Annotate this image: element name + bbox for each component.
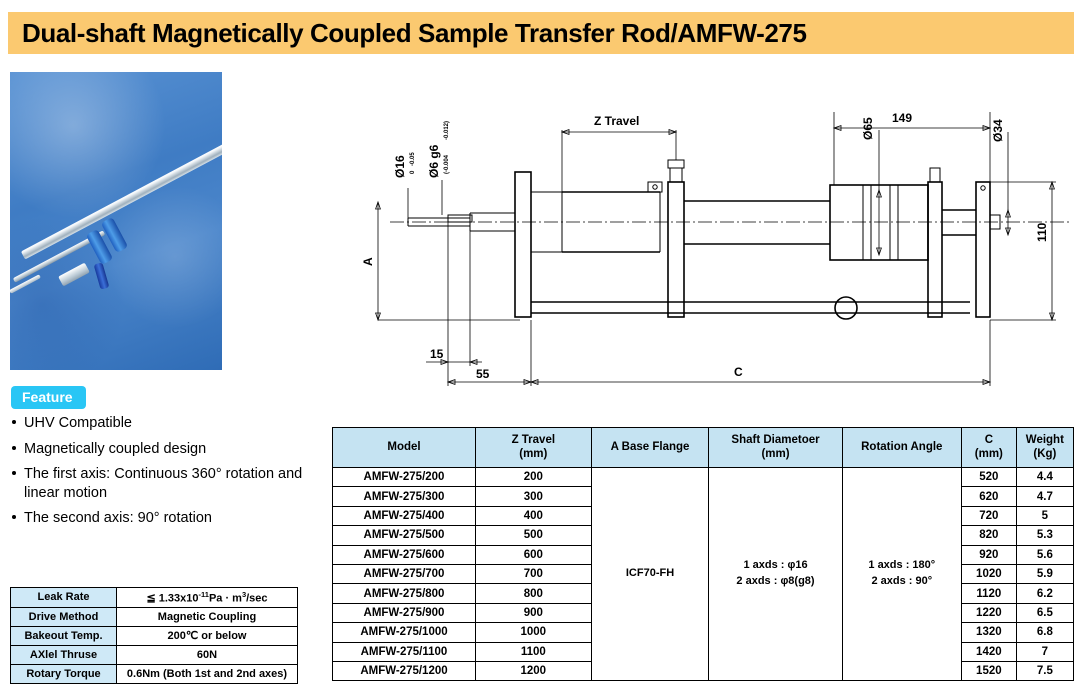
cell-weight: 4.4 [1016, 468, 1073, 487]
cell-weight: 6.5 [1016, 603, 1073, 622]
spec-value: ≦ 1.33x10-11Pa · m3/sec [117, 588, 298, 608]
cell-z-travel: 400 [475, 506, 591, 525]
dimension-c: C [531, 320, 990, 386]
dimension-dia-16: Ø16 0 -0.05 [393, 152, 416, 218]
label-dim-a: A [361, 257, 375, 266]
spec-label: Drive Method [11, 607, 117, 626]
body-tube [684, 201, 830, 244]
shaft-diameter-axis1: 1 axds : φ16 [711, 558, 839, 574]
cell-z-travel: 600 [475, 545, 591, 564]
feature-item: The second axis: 90° rotation [12, 509, 324, 528]
spec-value: 0.6Nm (Both 1st and 2nd axes) [117, 664, 298, 683]
datasheet-page: Dual-shaft Magnetically Coupled Sample T… [0, 0, 1082, 693]
column-header-weight: Weight (Kg) [1016, 428, 1073, 468]
cell-z-travel: 1100 [475, 642, 591, 661]
cell-model: AMFW-275/1200 [333, 661, 476, 680]
spec-label: AXlel Thruse [11, 645, 117, 664]
spec-value: Magnetic Coupling [117, 607, 298, 626]
cell-c: 1420 [961, 642, 1016, 661]
dimension-dia-6: Ø6 g6 (-0.004 -0.012) [427, 121, 450, 215]
cell-model: AMFW-275/600 [333, 545, 476, 564]
product-photo [10, 72, 222, 370]
cell-z-travel: 200 [475, 468, 591, 487]
leak-rate-prefix: ≦ 1.33x10 [146, 593, 198, 605]
model-table: Model Z Travel (mm) A Base Flange Shaft … [332, 427, 1074, 681]
leak-rate-exponent: -11 [199, 590, 209, 599]
dimension-a: A [361, 202, 520, 320]
dimension-110: 110 [990, 182, 1056, 320]
feature-item: UHV Compatible [12, 414, 324, 433]
cell-base-flange: ICF70-FH [591, 468, 709, 681]
cell-shaft-diameter: 1 axds : φ16 2 axds : φ8(g8) [709, 468, 842, 681]
right-coupling [928, 168, 976, 317]
label-dia-16-tol-upper: 0 [410, 170, 416, 174]
leak-rate-unit: Pa · m [209, 593, 242, 605]
cell-model: AMFW-275/400 [333, 506, 476, 525]
label-dia-6: Ø6 g6 [427, 144, 441, 178]
cell-weight: 7 [1016, 642, 1073, 661]
cell-c: 820 [961, 526, 1016, 545]
dimension-dia-34: Ø34 [991, 119, 1010, 235]
label-dia-6-tol-upper: (-0.004 [444, 154, 450, 174]
cell-z-travel: 300 [475, 487, 591, 506]
cell-z-travel: 1000 [475, 623, 591, 642]
spec-label: Bakeout Temp. [11, 626, 117, 645]
cell-model: AMFW-275/300 [333, 487, 476, 506]
carriage-flange [668, 160, 684, 317]
feature-list: UHV Compatible Magnetically coupled desi… [12, 414, 324, 535]
cell-weight: 5.3 [1016, 526, 1073, 545]
cell-weight: 4.7 [1016, 487, 1073, 506]
cell-z-travel: 700 [475, 564, 591, 583]
label-dim-110: 110 [1035, 222, 1049, 242]
column-header-c: C (mm) [961, 428, 1016, 468]
feature-item-label: The second axis: 90° rotation [24, 509, 212, 528]
cell-c: 1520 [961, 661, 1016, 680]
label-z-travel: Z Travel [594, 114, 639, 128]
dimension-15: 15 [426, 222, 482, 366]
bullet-icon [12, 414, 24, 424]
end-flange [976, 182, 1000, 317]
label-dim-149: 149 [892, 111, 912, 125]
rotation-angle-axis1: 1 axds : 180° [845, 558, 959, 574]
page-title: Dual-shaft Magnetically Coupled Sample T… [8, 18, 807, 49]
label-dim-55: 55 [476, 367, 490, 381]
tube-port-left [648, 182, 662, 192]
cell-model: AMFW-275/500 [333, 526, 476, 545]
feature-item-label: The first axis: Continuous 360° rotation… [24, 465, 324, 502]
feature-item: The first axis: Continuous 360° rotation… [12, 465, 324, 502]
title-bar: Dual-shaft Magnetically Coupled Sample T… [8, 12, 1074, 54]
table-row: AMFW-275/200 200 ICF70-FH 1 axds : φ16 2… [333, 468, 1074, 487]
cell-weight: 7.5 [1016, 661, 1073, 680]
spec-label: Rotary Torque [11, 664, 117, 683]
column-header-model: Model [333, 428, 476, 468]
cell-c: 1020 [961, 564, 1016, 583]
cell-model: AMFW-275/1100 [333, 642, 476, 661]
dimension-55: 55 [448, 320, 531, 386]
table-row: Drive Method Magnetic Coupling [11, 607, 298, 626]
leak-rate-unit2: /sec [246, 593, 267, 605]
cell-z-travel: 1200 [475, 661, 591, 680]
cell-c: 1320 [961, 623, 1016, 642]
label-dia-16-tol: -0.05 [410, 152, 416, 166]
cell-model: AMFW-275/700 [333, 564, 476, 583]
column-header-shaft-diameter: Shaft Diametoer (mm) [709, 428, 842, 468]
second-axis-rod [531, 297, 970, 319]
spec-value: 60N [117, 645, 298, 664]
table-row: Bakeout Temp. 200℃ or below [11, 626, 298, 645]
bullet-icon [12, 465, 24, 475]
cell-model: AMFW-275/200 [333, 468, 476, 487]
cell-model: AMFW-275/900 [333, 603, 476, 622]
cell-weight: 5.9 [1016, 564, 1073, 583]
dimension-149: 149 [834, 111, 990, 185]
cell-weight: 5.6 [1016, 545, 1073, 564]
cell-weight: 5 [1016, 506, 1073, 525]
feature-item: Magnetically coupled design [12, 440, 324, 459]
cell-z-travel: 900 [475, 603, 591, 622]
technical-drawing: Z Travel 149 A Ø16 [330, 70, 1082, 420]
bullet-icon [12, 509, 24, 519]
table-header-row: Model Z Travel (mm) A Base Flange Shaft … [333, 428, 1074, 468]
shaft-diameter-axis2: 2 axds : φ8(g8) [711, 574, 839, 590]
specification-table: Leak Rate ≦ 1.33x10-11Pa · m3/sec Drive … [10, 587, 298, 684]
label-dim-15: 15 [430, 347, 444, 361]
photo-collar [58, 262, 90, 286]
cell-model: AMFW-275/1000 [333, 623, 476, 642]
label-dia-65: Ø65 [861, 117, 875, 140]
cell-rotation-angle: 1 axds : 180° 2 axds : 90° [842, 468, 961, 681]
base-flange [515, 172, 562, 317]
cell-c: 620 [961, 487, 1016, 506]
dimension-z-travel: Z Travel [562, 114, 676, 192]
label-dia-34: Ø34 [991, 119, 1005, 142]
table-row: Leak Rate ≦ 1.33x10-11Pa · m3/sec [11, 588, 298, 608]
column-header-z-travel: Z Travel (mm) [475, 428, 591, 468]
feature-item-label: Magnetically coupled design [24, 440, 206, 459]
cell-c: 1120 [961, 584, 1016, 603]
table-row: AXlel Thruse 60N [11, 645, 298, 664]
column-header-rotation-angle: Rotation Angle [842, 428, 961, 468]
cell-c: 1220 [961, 603, 1016, 622]
photo-handle [93, 262, 109, 289]
cell-z-travel: 800 [475, 584, 591, 603]
feature-item-label: UHV Compatible [24, 414, 132, 433]
cell-c: 520 [961, 468, 1016, 487]
cell-weight: 6.8 [1016, 623, 1073, 642]
cell-z-travel: 500 [475, 526, 591, 545]
label-dim-c: C [734, 365, 743, 379]
rotation-angle-axis2: 2 axds : 90° [845, 574, 959, 590]
bullet-icon [12, 440, 24, 450]
table-row: Rotary Torque 0.6Nm (Both 1st and 2nd ax… [11, 664, 298, 683]
label-dia-6-tol-lower: -0.012) [444, 121, 450, 140]
cell-weight: 6.2 [1016, 584, 1073, 603]
spec-value: 200℃ or below [117, 626, 298, 645]
label-dia-16: Ø16 [393, 155, 407, 178]
feature-badge: Feature [11, 386, 86, 409]
cell-c: 720 [961, 506, 1016, 525]
spec-label: Leak Rate [11, 588, 117, 608]
column-header-base-flange: A Base Flange [591, 428, 709, 468]
cell-c: 920 [961, 545, 1016, 564]
cell-model: AMFW-275/800 [333, 584, 476, 603]
